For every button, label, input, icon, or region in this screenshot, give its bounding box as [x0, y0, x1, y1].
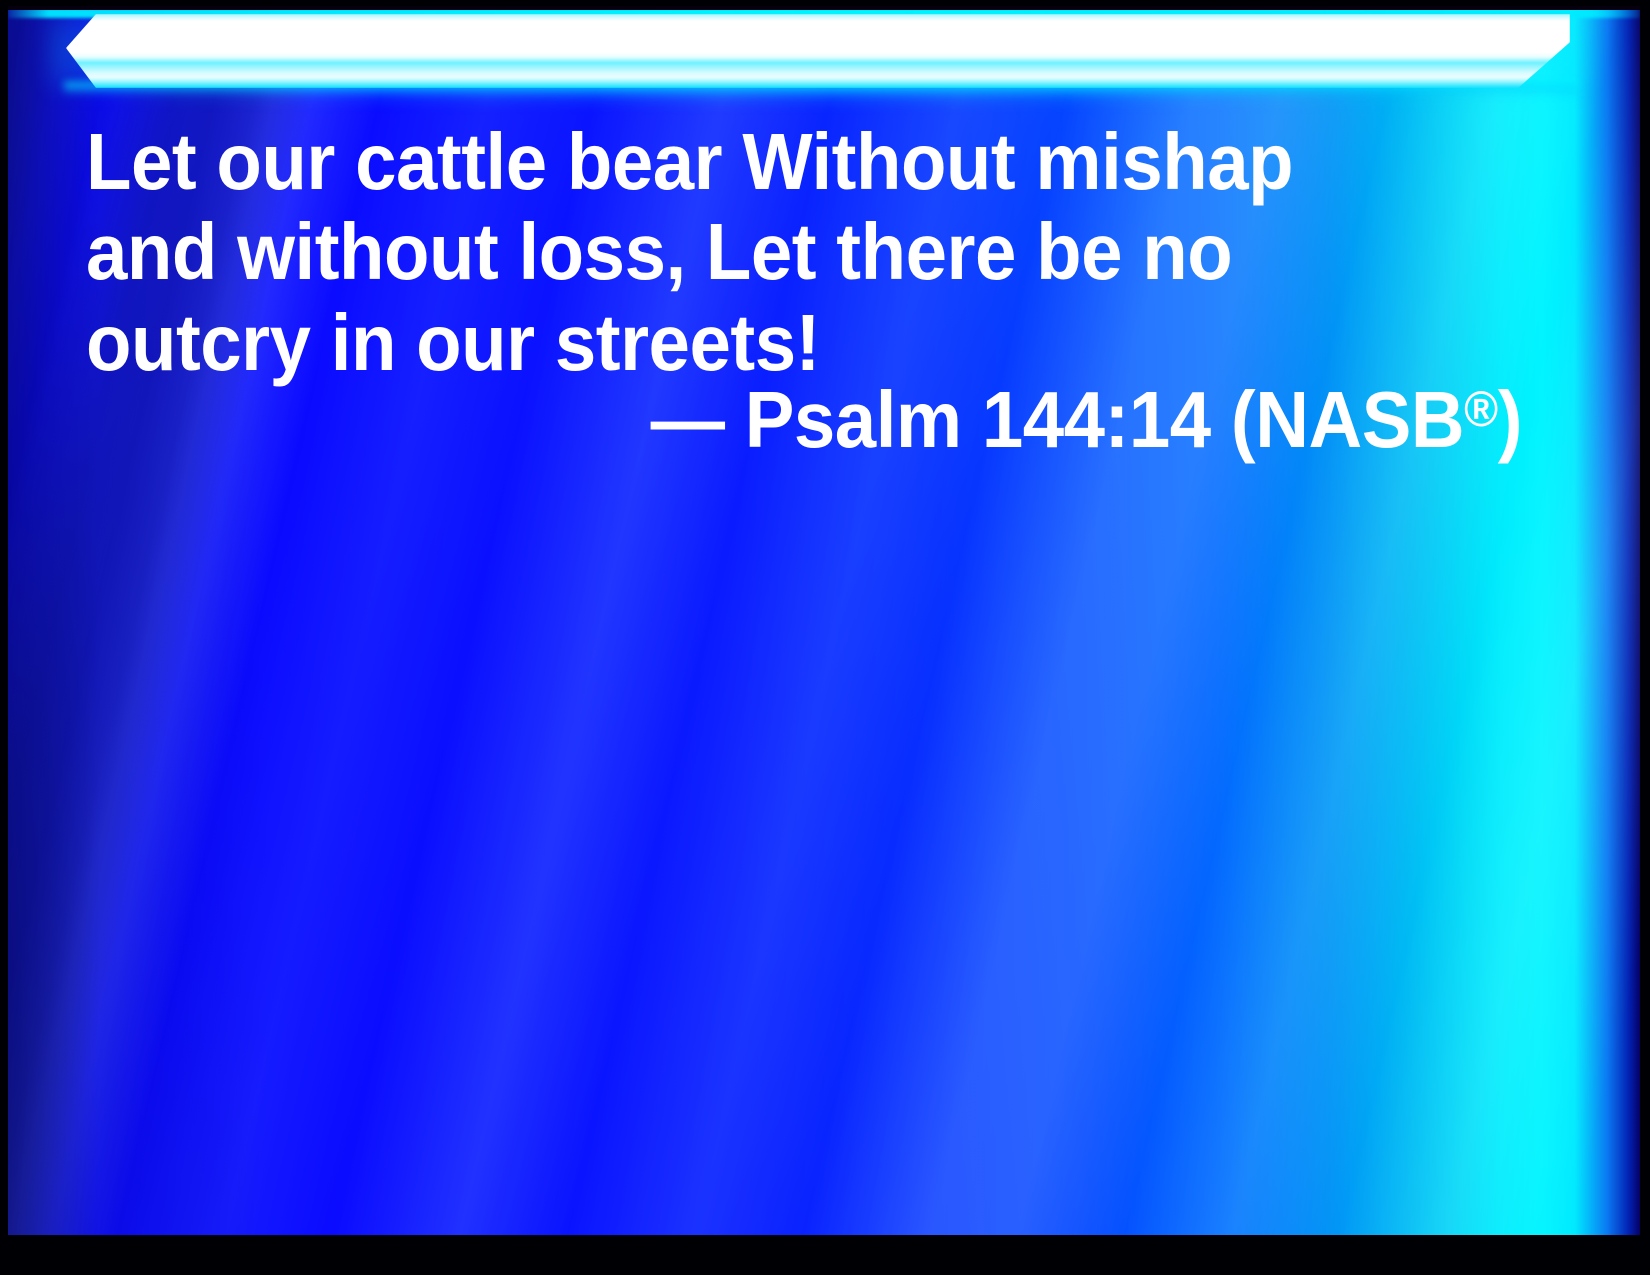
verse-attribution-inner: — Psalm 144:14 (NASB®) [651, 375, 1522, 465]
slide-text-layer: Let our cattle bear Without mishap and w… [0, 0, 1650, 1275]
verse-text: Let our cattle bear Without mishap and w… [86, 117, 1388, 388]
attribution-reference: Psalm 144:14 [745, 375, 1211, 464]
attribution-space [725, 375, 745, 464]
attribution-open-paren: ( [1231, 375, 1255, 464]
attribution-space-2 [1211, 375, 1231, 464]
attribution-close-paren: ) [1498, 375, 1522, 464]
attribution-dash: — [651, 375, 725, 464]
registered-trademark-icon: ® [1464, 381, 1498, 437]
verse-attribution: — Psalm 144:14 (NASB®) [86, 375, 1522, 465]
attribution-translation: NASB [1255, 375, 1464, 464]
scripture-slide: Let our cattle bear Without mishap and w… [0, 0, 1650, 1275]
